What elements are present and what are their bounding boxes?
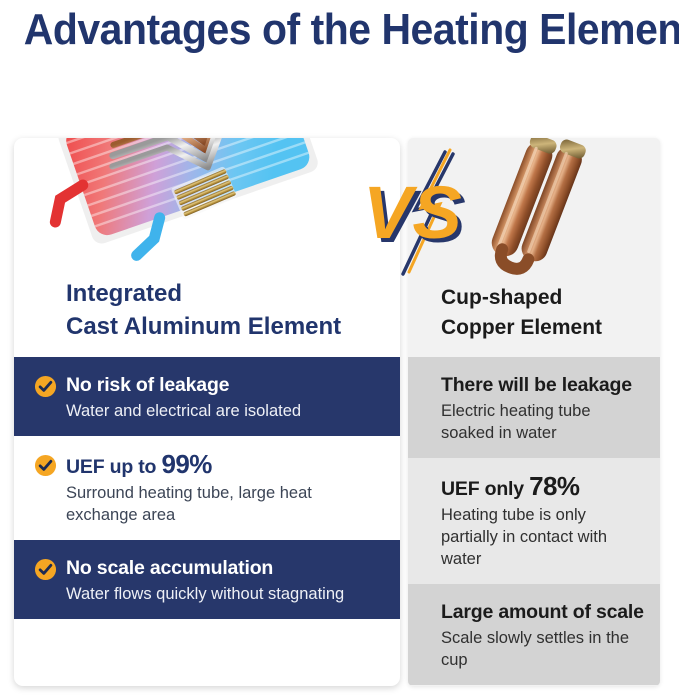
check-circle-icon xyxy=(34,558,57,581)
copper-row-scale-sub: Scale slowly settles in the cup xyxy=(441,627,644,671)
copper-row-leakage: There will be leakage Electric heating t… xyxy=(408,357,660,458)
copper-row-leakage-sub: Electric heating tube soaked in water xyxy=(441,400,644,444)
aluminum-row-leakage-sub: Water and electrical are isolated xyxy=(66,400,380,422)
copper-card-heading: Cup-shaped Copper Element xyxy=(441,283,602,343)
check-circle-icon xyxy=(34,454,57,477)
aluminum-row-leakage: No risk of leakage Water and electrical … xyxy=(14,357,400,436)
aluminum-uef-value: 99% xyxy=(161,449,211,479)
aluminum-header-zone: Integrated Cast Aluminum Element xyxy=(14,138,400,357)
aluminum-uef-prefix: UEF up to xyxy=(66,456,161,478)
comparison-card-copper: Cup-shaped Copper Element There will be … xyxy=(408,138,660,686)
copper-row-uef: UEF only 78% Heating tube is only partia… xyxy=(408,458,660,584)
infographic-page: Advantages of the Heating Element xyxy=(0,0,679,695)
page-title: Advantages of the Heating Element xyxy=(24,2,655,58)
copper-row-scale-heading: Large amount of scale xyxy=(441,600,644,625)
aluminum-row-uef-sub: Surround heating tube, large heat exchan… xyxy=(66,482,380,526)
aluminum-row-scale-heading: No scale accumulation xyxy=(66,556,380,581)
copper-row-scale: Large amount of scale Scale slowly settl… xyxy=(408,584,660,685)
copper-row-leakage-heading: There will be leakage xyxy=(441,373,644,398)
copper-uef-prefix: UEF only xyxy=(441,478,529,500)
copper-tube-heating-element-illustration xyxy=(460,138,610,288)
aluminum-row-leakage-heading: No risk of leakage xyxy=(66,373,380,398)
check-circle-icon xyxy=(34,375,57,398)
aluminum-row-scale: No scale accumulation Water flows quickl… xyxy=(14,540,400,619)
copper-header-zone: Cup-shaped Copper Element xyxy=(408,138,660,357)
aluminum-row-uef-heading: UEF up to 99% xyxy=(66,452,380,480)
copper-uef-value: 78% xyxy=(529,471,579,501)
copper-row-uef-heading: UEF only 78% xyxy=(441,474,644,502)
comparison-card-aluminum: Integrated Cast Aluminum Element No risk… xyxy=(14,138,400,686)
aluminum-row-scale-sub: Water flows quickly without stagnating xyxy=(66,583,380,605)
aluminum-card-heading: Integrated Cast Aluminum Element xyxy=(66,277,341,343)
copper-row-uef-sub: Heating tube is only partially in contac… xyxy=(441,504,644,570)
aluminum-row-uef: UEF up to 99% Surround heating tube, lar… xyxy=(14,436,400,540)
